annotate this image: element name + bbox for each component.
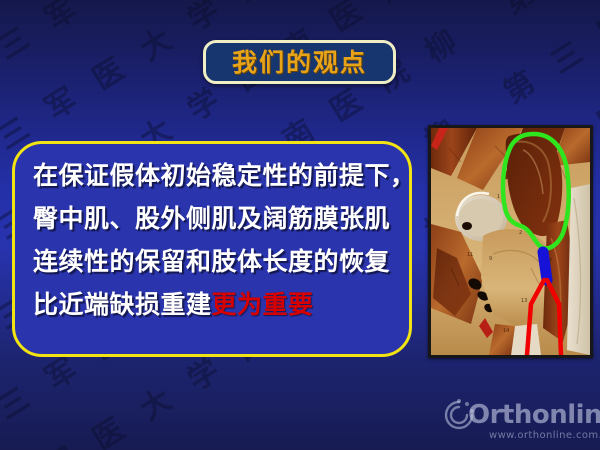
svg-text:2: 2 [519,230,522,236]
slide-title-plaque: 我们的观点 [203,40,396,84]
brand-watermark: Orthonline www.orthonline.com.cn [440,398,598,448]
body-line-4-emphasis: 更为重要 [212,290,314,319]
body-line-4: 比近端缺损重建更为重要 [33,283,401,326]
svg-text:13: 13 [521,298,527,304]
presentation-slide: 第三军医大学西南医院柳 第三军医大学西南医院柳 第三军医大学西南医院柳 第三军医… [0,0,600,450]
anatomical-figure-canvas: 1 2 7 11 9 13 14 [431,128,590,355]
svg-text:7: 7 [549,258,552,264]
body-text: 在保证假体初始稳定性的前提下， 臀中肌、股外侧肌及阔筋膜张肌 连续性的保留和肢体… [33,154,401,326]
svg-text:1: 1 [497,194,500,200]
svg-text:9: 9 [489,256,492,262]
body-line-3: 连续性的保留和肢体长度的恢复 [33,240,401,283]
annotation-blue-marker [543,252,547,280]
svg-text:14: 14 [503,328,509,334]
brand-url: www.orthonline.com.cn [489,430,600,442]
anatomical-figure: 1 2 7 11 9 13 14 [428,125,593,358]
svg-text:11: 11 [467,252,473,258]
content-panel: 在保证假体初始稳定性的前提下， 臀中肌、股外侧肌及阔筋膜张肌 连续性的保留和肢体… [12,141,412,357]
body-line-2: 臀中肌、股外侧肌及阔筋膜张肌 [33,197,401,240]
body-line-1: 在保证假体初始稳定性的前提下， [33,154,401,197]
page-title: 我们的观点 [232,50,367,75]
orthonline-swirl-icon [442,398,476,432]
body-line-4-normal: 比近端缺损重建 [33,290,212,319]
brand-name: Orthonline [468,400,600,430]
watermark-row: 第三军医大学西南医院柳 第三军医大学西南医院柳 第三军医大学西南医院柳 第三军医… [0,0,600,7]
